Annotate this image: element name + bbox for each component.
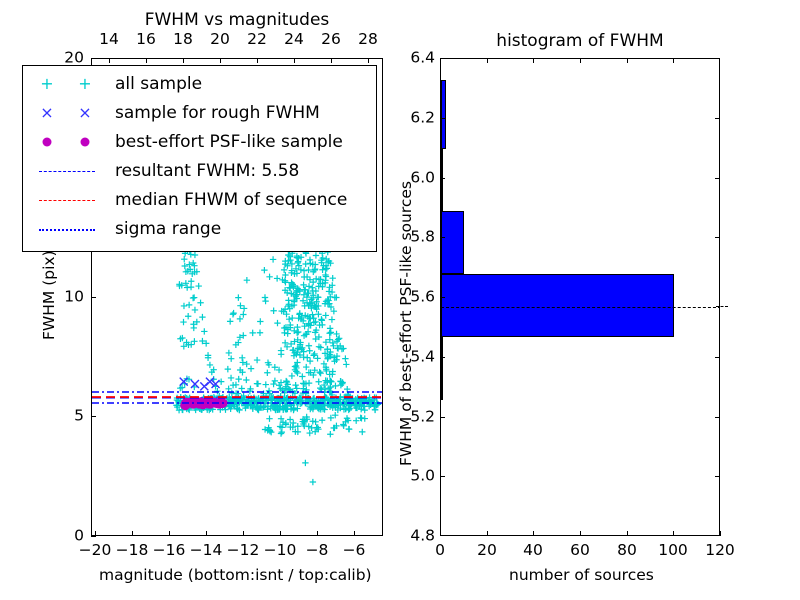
legend-row-median-fhwm: median FHWM of sequence [23,186,376,214]
right-xtick-label: 20 [477,543,497,559]
right-xtick [627,531,628,536]
left-xtick-top [220,58,221,63]
left-xtick-label: −6 [343,543,366,559]
left-xtick-label: −12 [227,543,260,559]
right-ytick-label: 6.4 [403,50,435,66]
left-xtick-label: −18 [116,543,149,559]
right-xtick [720,531,721,536]
histogram-bar [441,211,464,274]
left-xtick-label: −8 [306,543,329,559]
legend-label: sample for rough FWHM [115,103,320,123]
legend-row-psf-like: best-effort PSF-like sample [23,128,376,156]
dashdot-line-icon [39,229,95,231]
legend-label: resultant FWHM: 5.58 [115,161,299,181]
right-xtick-label: 60 [570,543,590,559]
left-ytick-label: 0 [66,528,84,544]
legend-row-rough-fwhm: × × sample for rough FWHM [23,99,376,127]
right-ytick-right [715,237,720,238]
right-plot-axes [440,58,720,536]
left-xtick-top [183,58,184,63]
left-plot-title: FWHM vs magnitudes [145,10,330,30]
left-xtick-label: −16 [153,543,186,559]
left-xtick-label: −14 [190,543,223,559]
left-xtick-label: −20 [79,543,112,559]
right-ytick-right [715,357,720,358]
right-xaxis-title: number of sources [509,566,654,584]
left-xtick [280,531,281,536]
legend-label: all sample [115,74,202,94]
left-xtick [132,531,133,536]
dot-icon [81,138,90,147]
right-xtick [533,531,534,536]
right-ytick [440,417,445,418]
left-xtick-top-label: 26 [321,32,341,48]
right-xtick-top [673,58,674,63]
right-xtick-top [580,58,581,63]
left-xtick-top [331,58,332,63]
right-xtick-label: 40 [523,543,543,559]
histogram-bar [441,80,446,149]
right-xtick-top [487,58,488,63]
cross-icon: × [78,105,91,121]
dashed-line-icon [39,200,95,201]
right-ytick [440,476,445,477]
histogram-bar [441,149,443,212]
dashed-line-icon [39,171,95,172]
histogram-median-line-overshoot [716,306,728,307]
legend-label: sigma range [115,219,221,239]
right-ytick-label: 4.8 [403,528,435,544]
right-yaxis-title: FWHM of best-effort PSF-like sources [397,181,415,466]
legend-label: best-effort PSF-like sample [115,132,343,152]
left-xtick-top-label: 24 [284,32,304,48]
left-xtick-top-label: 20 [210,32,230,48]
figure-canvas: FWHM vs magnitudes 14 16 18 20 22 24 26 … [0,0,800,600]
legend-label: median FHWM of sequence [115,190,347,210]
histogram-bar [441,274,674,337]
left-xtick [206,531,207,536]
left-xtick [354,531,355,536]
left-ytick-label: 20 [57,50,84,66]
left-xtick-top-label: 16 [136,32,156,48]
right-xtick-label: 0 [435,543,445,559]
left-xtick-top-label: 28 [358,32,378,48]
left-xtick-top [257,58,258,63]
right-xtick-label: 80 [617,543,637,559]
left-ytick-label: 10 [57,289,84,305]
right-xtick-top [533,58,534,63]
plus-icon: + [78,76,91,92]
right-xtick [673,531,674,536]
legend-row-sigma-range: sigma range [23,215,376,243]
right-ytick-right [715,118,720,119]
dot-icon [43,138,52,147]
right-xtick-label: 100 [658,543,688,559]
left-xtick-top [368,58,369,63]
right-ytick [440,237,445,238]
right-xtick [440,531,441,536]
right-plot-title: histogram of FWHM [496,31,663,51]
left-xtick-top-label: 18 [173,32,193,48]
right-xtick [487,531,488,536]
right-xtick-top [627,58,628,63]
left-ytick [91,536,96,537]
left-xtick [243,531,244,536]
histogram-median-line [441,307,719,308]
cross-icon: × [40,105,53,121]
right-plot-data [441,59,719,535]
right-ytick [440,178,445,179]
left-xtick-top [146,58,147,63]
left-xtick-top-label: 14 [99,32,119,48]
left-xtick-top [294,58,295,63]
left-xtick-label: −10 [264,543,297,559]
right-ytick-label: 6.2 [403,110,435,126]
right-ytick-label: 5.0 [403,468,435,484]
right-ytick-right [715,476,720,477]
left-ytick [91,416,96,417]
right-ytick [440,118,445,119]
right-ytick-right [715,417,720,418]
left-yaxis-title: FWHM (pix) [40,250,58,340]
plus-icon: + [40,76,53,92]
legend-row-all-sample: + + all sample [23,70,376,98]
histogram-bar [441,337,443,400]
left-xtick-top-label: 22 [247,32,267,48]
left-xaxis-title: magnitude (bottom:isnt / top:calib) [99,566,372,584]
left-xtick [317,531,318,536]
right-xtick [580,531,581,536]
left-ytick-label: 5 [66,408,84,424]
left-xtick-top [109,58,110,63]
left-ytick [91,297,96,298]
right-ytick [440,297,445,298]
right-xtick-label: 120 [705,543,735,559]
legend-box: + + all sample × × sample for rough FWHM… [22,65,377,252]
right-ytick-right [715,178,720,179]
legend-row-resultant-fwhm: resultant FWHM: 5.58 [23,157,376,185]
left-xtick [169,531,170,536]
right-ytick [440,357,445,358]
